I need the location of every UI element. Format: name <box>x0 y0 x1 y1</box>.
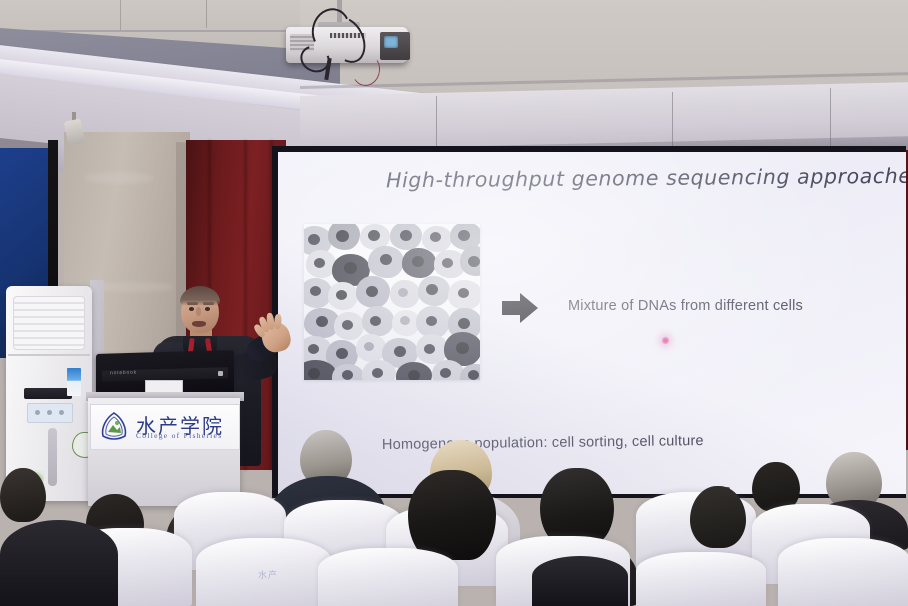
presenter-mouth <box>192 321 206 327</box>
audience-head <box>690 486 746 548</box>
slide-bullet-text: Mixture of DNAs from different cells <box>568 298 803 314</box>
laptop-indicator <box>218 371 223 376</box>
ceiling-seam <box>206 0 207 28</box>
ac-energy-label <box>67 368 81 396</box>
right-arrow-icon <box>502 301 522 315</box>
audience-head <box>408 470 496 560</box>
podium-banner-english: College of Fisheries <box>136 431 222 440</box>
ac-vent-slot <box>48 428 57 486</box>
laser-pointer-dot <box>661 336 670 345</box>
ceiling-seam <box>120 0 121 30</box>
laptop-brand-label: notebook <box>110 370 137 377</box>
audience-chair <box>636 552 766 606</box>
ac-air-grille <box>13 296 85 350</box>
slide-title: High-throughput genome sequencing approa… <box>386 164 906 193</box>
wall-seam <box>830 88 831 150</box>
audience-chair <box>778 538 908 606</box>
audience-chair: 水产 <box>196 538 332 606</box>
audience-head <box>540 468 614 546</box>
ac-display <box>24 388 72 399</box>
projection-screen[interactable]: High-throughput genome sequencing approa… <box>278 152 906 494</box>
presenter-nose <box>196 307 201 316</box>
ac-seam <box>8 354 90 356</box>
fisheries-crest-logo-icon <box>98 410 130 442</box>
lecture-hall-scene: High-throughput genome sequencing approa… <box>0 0 908 606</box>
projector-lens <box>384 36 398 48</box>
foreground-head <box>532 556 628 606</box>
right-arrow-head-icon <box>520 293 538 323</box>
slide-caption-text: Homogenous population: cell sorting, cel… <box>382 433 704 453</box>
wall-seam <box>672 92 673 154</box>
ac-control-panel[interactable] <box>27 403 73 423</box>
chair-cover-mark: 水产 <box>258 568 278 581</box>
foreground-head <box>0 520 118 606</box>
slide-cells-image <box>304 224 480 380</box>
audience-head <box>0 468 46 522</box>
audience-chair <box>318 548 458 606</box>
